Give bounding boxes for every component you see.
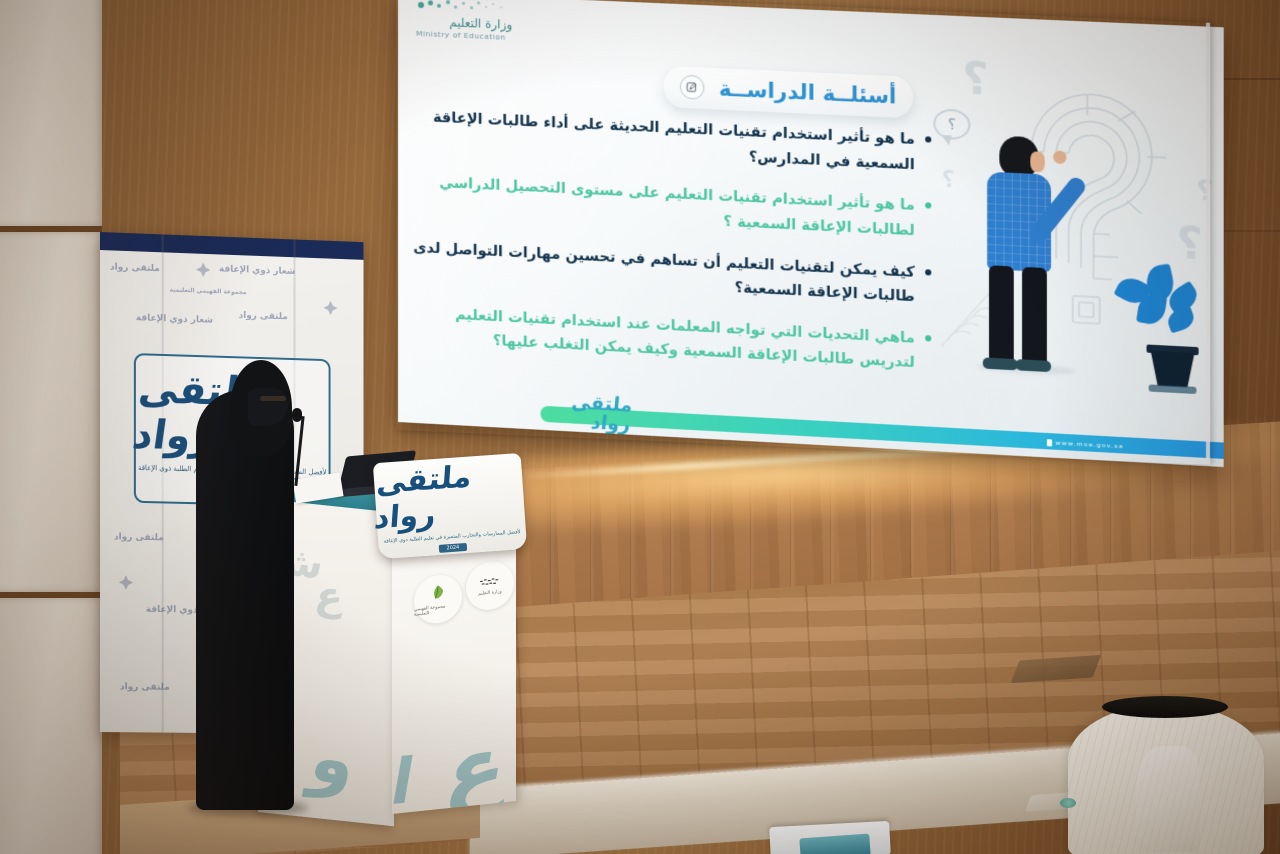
banner-label: ملتقى رواد bbox=[114, 532, 164, 543]
slide-title: أسئلــة الدراســة bbox=[719, 76, 896, 108]
bullet-text: ما هو تأثير استخدام تقنيات التعليم على م… bbox=[404, 170, 915, 244]
event-brand-arabic: ملتقى رواد bbox=[524, 391, 633, 435]
edit-pencil-icon[interactable] bbox=[680, 75, 704, 100]
bullet-text: ما هو تأثير استخدام تقنيات التعليم الحدي… bbox=[404, 104, 915, 177]
ghost-question-mark: ؟ bbox=[1176, 217, 1203, 270]
podium-logo-left: مجموعة الفهيمي التعليمية bbox=[414, 573, 462, 626]
banner-ornament-icon bbox=[323, 300, 339, 316]
bullet-dot-icon bbox=[925, 203, 931, 209]
conference-hall-scene: ملتقى رواد شعار ذوي الإعاقة مجموعة الفهي… bbox=[0, 0, 1280, 854]
bubble-question-glyph: ؟ bbox=[948, 115, 956, 134]
wall-panel-middle bbox=[0, 232, 102, 592]
banner-label: ملتقى رواد bbox=[120, 682, 170, 693]
podium-sign: ملتقى رواد لأفضل الممارسات والتجارب المت… bbox=[373, 453, 527, 559]
man-hand bbox=[1053, 150, 1066, 164]
globe-icon bbox=[1047, 439, 1052, 446]
man-shoe bbox=[983, 357, 1018, 370]
podium-logo-left-caption: مجموعة الفهيمي التعليمية bbox=[414, 603, 462, 618]
bullet-dot-icon bbox=[925, 269, 931, 275]
man-leg bbox=[1022, 267, 1047, 368]
banner-ornament-icon bbox=[118, 574, 134, 590]
bullet-item: ما هو تأثير استخدام تقنيات التعليم على م… bbox=[404, 170, 931, 245]
projection-screen[interactable]: وزارة التعليم Ministry of Education أسئل… bbox=[398, 0, 1224, 467]
banner-label: ملتقى رواد bbox=[239, 311, 288, 323]
plant-pot bbox=[1151, 351, 1195, 388]
bullet-dot-icon bbox=[925, 335, 931, 341]
podium-logo-right-caption: وزارة التعليم bbox=[478, 589, 502, 596]
ministry-of-education-logo: وزارة التعليم Ministry of Education bbox=[416, 0, 512, 42]
podium-logo-right: وزارة التعليم bbox=[466, 559, 514, 612]
wall-panel-top bbox=[0, 0, 102, 226]
illustration-man bbox=[970, 124, 1078, 384]
slide-illustration: ؟ ؟ ؟ ؟ ؟ bbox=[940, 42, 1218, 414]
attendee-igal bbox=[1102, 696, 1228, 718]
presenter-eyes bbox=[260, 396, 286, 401]
slide-bullet-list: ما هو تأثير استخدام تقنيات التعليم الحدي… bbox=[404, 104, 931, 393]
ghost-question-mark: ؟ bbox=[962, 53, 988, 106]
logo-education-icon bbox=[479, 575, 501, 589]
podium-calligraphy: ا bbox=[392, 743, 420, 814]
banner-label: شعار ذوي الإعاقة bbox=[136, 313, 213, 326]
banner-ornament-icon bbox=[195, 262, 211, 278]
plant-leaf bbox=[1165, 306, 1198, 333]
ghost-question-mark: ؟ bbox=[1196, 173, 1213, 208]
presenter-woman bbox=[196, 360, 316, 810]
man-legs bbox=[989, 265, 1049, 368]
slide-title-pill: أسئلــة الدراســة bbox=[664, 66, 913, 119]
man-leg bbox=[989, 265, 1014, 366]
man-shoe bbox=[1016, 359, 1051, 372]
podium-calligraphy: ع bbox=[312, 573, 347, 621]
bullet-item: ماهي التحديات التي تواجه المعلمات عند اس… bbox=[404, 300, 931, 377]
bullet-item: كيف يمكن لتقنيات التعليم أن تساهم في تحس… bbox=[404, 235, 931, 311]
plant-pot-base bbox=[1149, 384, 1197, 394]
bullet-text: ماهي التحديات التي تواجه المعلمات عند اس… bbox=[404, 300, 915, 376]
attendee-prayer-beads bbox=[1060, 798, 1076, 808]
attendee-ghutra-fold bbox=[1136, 746, 1200, 852]
banner-label: مجموعة الفهيمي التعليمية bbox=[170, 286, 247, 296]
podium-sign-badge: 2024 bbox=[438, 542, 467, 552]
wall-panel-bottom bbox=[0, 598, 102, 854]
banner-label: ملتقى رواد bbox=[110, 262, 160, 274]
banner-label: شعار ذوي الإعاقة bbox=[219, 264, 295, 277]
speech-bubble-icon: ؟ bbox=[933, 108, 970, 140]
podium-calligraphy: ع bbox=[439, 715, 515, 814]
podium-sign-plate: ملتقى رواد لأفضل الممارسات والتجارب المت… bbox=[373, 453, 527, 559]
podium-sign-title: ملتقى رواد bbox=[373, 455, 526, 536]
ghost-question-mark: ؟ bbox=[942, 167, 955, 193]
bullet-text: كيف يمكن لتقنيات التعليم أن تساهم في تحس… bbox=[404, 235, 915, 310]
logo-green-leaf-icon bbox=[428, 582, 448, 604]
attendee-man bbox=[1040, 690, 1280, 854]
bullet-dot-icon bbox=[925, 136, 931, 142]
event-brand-logo: ملتقى رواد لأفضل الممارسات والتجارب المت… bbox=[526, 391, 631, 431]
man-face bbox=[1030, 151, 1044, 172]
